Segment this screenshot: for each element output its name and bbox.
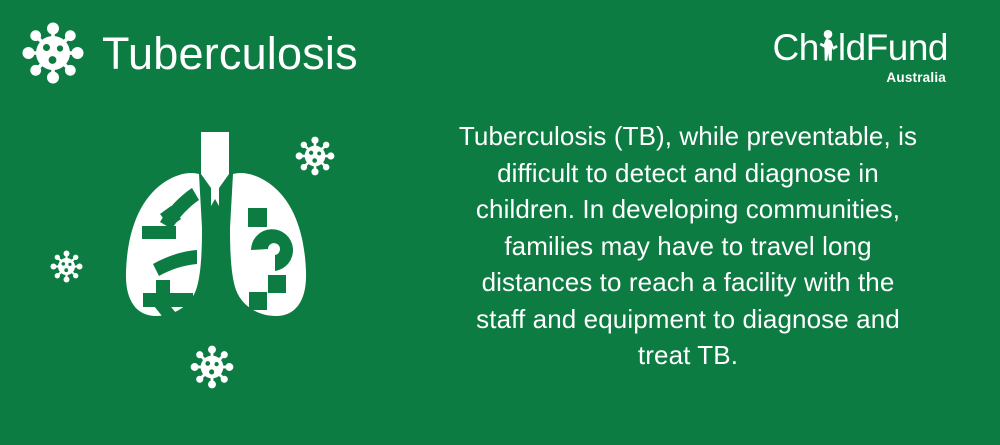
- paragraph-line: treat TB.: [438, 337, 938, 374]
- child-figure-icon: [818, 29, 838, 63]
- germ-icon: [190, 345, 234, 389]
- logo-word-first: Ch: [773, 29, 819, 66]
- logo-wordmark: Ch ldFund: [773, 26, 948, 66]
- paragraph-line: difficult to detect and diagnose in: [438, 155, 938, 192]
- body-paragraph: Tuberculosis (TB), while preventable, is…: [438, 118, 938, 374]
- paragraph-line: families may have to travel long: [438, 228, 938, 265]
- infographic-card: Tuberculosis Ch ldFund Australia: [0, 0, 1000, 445]
- paragraph-line: staff and equipment to diagnose and: [438, 301, 938, 338]
- germ-icon: [50, 250, 83, 283]
- header: Tuberculosis: [22, 22, 358, 84]
- paragraph-line: Tuberculosis (TB), while preventable, is: [438, 118, 938, 155]
- childfund-logo[interactable]: Ch ldFund Australia: [773, 26, 948, 85]
- page-title: Tuberculosis: [102, 31, 358, 76]
- germ-icon: [22, 22, 84, 84]
- logo-word-last: ldFund: [838, 29, 948, 66]
- paragraph-line: distances to reach a facility with the: [438, 264, 938, 301]
- paragraph-line: children. In developing communities,: [438, 191, 938, 228]
- germ-icon: [295, 136, 335, 176]
- logo-country-label: Australia: [773, 71, 948, 85]
